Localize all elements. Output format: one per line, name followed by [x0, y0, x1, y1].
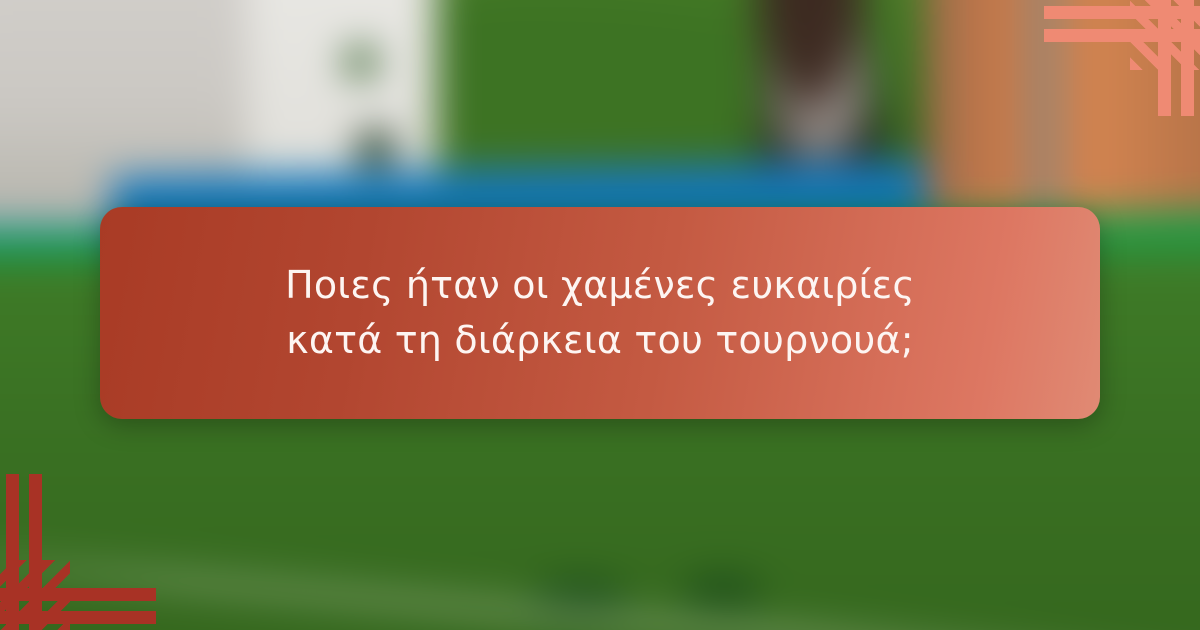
background-brick-wall — [926, 0, 1200, 225]
share-card-canvas: Ποιες ήταν οι χαμένες ευκαιρίες κατά τη … — [0, 0, 1200, 630]
question-text: Ποιες ήταν οι χαμένες ευκαιρίες κατά τη … — [240, 258, 960, 369]
background-grass-shadow — [681, 574, 762, 610]
question-card: Ποιες ήταν οι χαμένες ευκαιρίες κατά τη … — [100, 207, 1100, 419]
background-post — [1029, 0, 1062, 225]
